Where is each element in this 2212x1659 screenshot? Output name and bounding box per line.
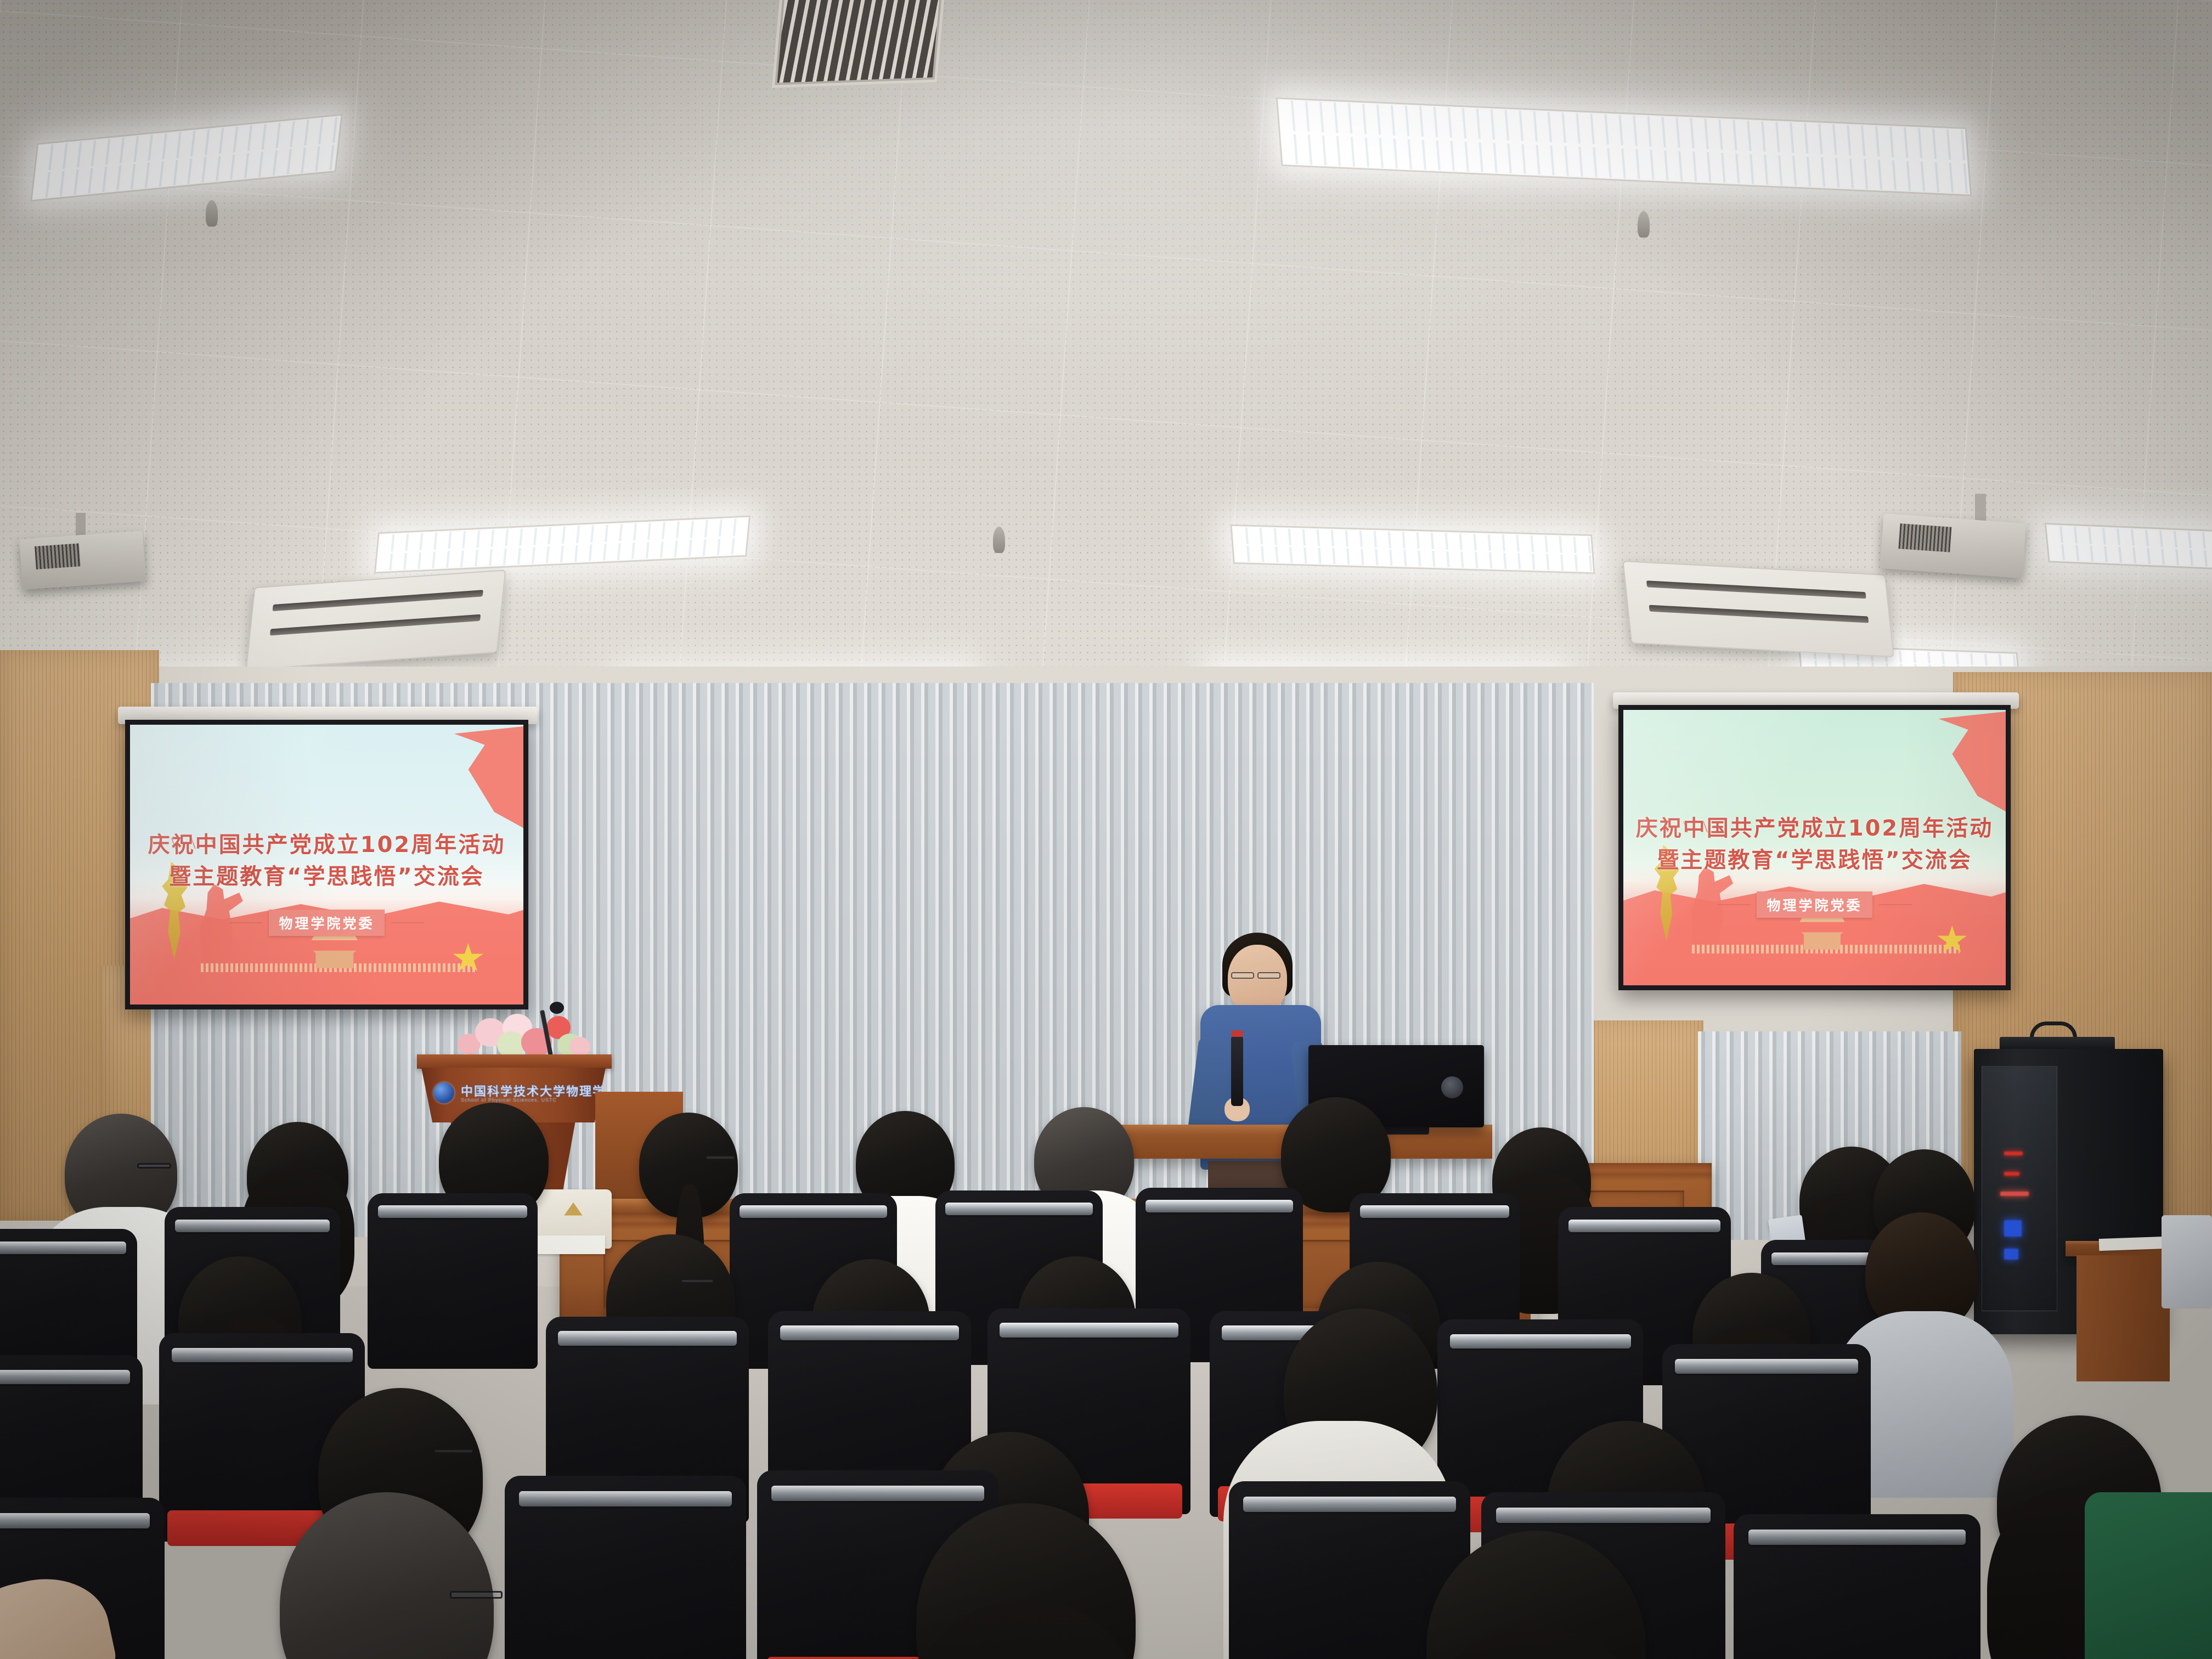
slide-badge-row-r: 物理学院党委 xyxy=(1623,891,2006,918)
auditorium-photo: ﹨﹨﹨ 庆祝中国共产党成立102周年活动 暨主题教育“学思践悟”交流会 物理学院… xyxy=(0,0,2212,1659)
rack-top-handle-icon xyxy=(2030,1022,2077,1038)
triangle-emblem-icon xyxy=(564,1203,583,1216)
university-crest-icon xyxy=(433,1082,454,1103)
rack-led-blue-2 xyxy=(2004,1249,2018,1260)
attendee-glasses-12 xyxy=(680,1278,714,1284)
slide-title-block-r: 庆祝中国共产党成立102周年活动 暨主题教育“学思践悟”交流会 xyxy=(1623,815,2006,874)
attendee-green-top xyxy=(2085,1492,2212,1659)
attendee-head-4 xyxy=(639,1113,738,1218)
rack-led-blue-1 xyxy=(2004,1220,2022,1237)
ceiling-projector-left xyxy=(19,531,146,589)
document-on-side-table[interactable] xyxy=(2099,1237,2165,1251)
presenter-head xyxy=(1228,945,1287,1014)
attendee-glasses-4 xyxy=(705,1155,736,1160)
projection-screen-right[interactable]: ﹨﹨﹨ 庆祝中国共产党成立102周年活动 暨主题教育“学思践悟”交流会 物理学院… xyxy=(1618,705,2011,990)
sprinkler-2 xyxy=(1638,211,1650,238)
slide-title-line-1: 庆祝中国共产党成立102周年活动 xyxy=(130,831,523,859)
lectern-top xyxy=(417,1054,612,1069)
slide-red-corner-shape xyxy=(421,725,523,837)
dell-logo-icon xyxy=(1441,1076,1463,1098)
attendee-glasses-1 xyxy=(137,1163,171,1169)
slide-rule-right-r xyxy=(1879,904,1912,905)
rack-led-red-3 xyxy=(2000,1192,2029,1196)
troffer-5 xyxy=(2045,523,2212,570)
rack-led-red-2 xyxy=(2004,1172,2019,1176)
papers-on-seat[interactable] xyxy=(535,1235,605,1254)
slide-org-badge-r: 物理学院党委 xyxy=(1757,891,1872,918)
sprinkler-1 xyxy=(993,527,1005,553)
slide-flag-wave xyxy=(130,876,523,1005)
slide-org-badge: 物理学院党委 xyxy=(269,910,384,936)
slide-red-corner-shape-r xyxy=(1906,710,2006,820)
slide-rule-right xyxy=(391,922,424,923)
slide-title-line-1-r: 庆祝中国共产党成立102周年活动 xyxy=(1623,815,2006,842)
seat-c8[interactable] xyxy=(1734,1514,1980,1659)
seat-c3[interactable] xyxy=(505,1476,746,1659)
presenter-glasses-right xyxy=(1257,972,1280,979)
lectern-org-subtext: School of Physical Sciences, USTC xyxy=(461,1097,557,1103)
side-table-leg xyxy=(2076,1255,2170,1381)
attendee-arm-right-edge xyxy=(2162,1215,2212,1308)
presenter-glasses xyxy=(1231,972,1254,979)
rack-led-red-1 xyxy=(2004,1152,2023,1155)
ceiling-air-vent xyxy=(772,0,945,88)
slide-title-line-2-r: 暨主题教育“学思践悟”交流会 xyxy=(1623,847,2006,874)
slide-badge-row: 物理学院党委 xyxy=(130,910,523,936)
podium-microphone[interactable] xyxy=(550,1002,564,1014)
slide-title-block: 庆祝中国共产党成立102周年活动 暨主题教育“学思践悟”交流会 xyxy=(130,831,523,890)
sprinkler-3 xyxy=(206,200,218,227)
projection-screen-left[interactable]: ﹨﹨﹨ 庆祝中国共产党成立102周年活动 暨主题教育“学思践悟”交流会 物理学院… xyxy=(125,720,528,1009)
handheld-microphone[interactable] xyxy=(1231,1036,1243,1106)
attendee-glasses-18 xyxy=(433,1448,474,1454)
rack-glass-door[interactable] xyxy=(1982,1066,2057,1311)
slide-title-line-2: 暨主题教育“学思践悟”交流会 xyxy=(130,863,523,890)
slide-flag-wave-r xyxy=(1623,859,2006,985)
attendee-glasses-fg-1 xyxy=(450,1591,503,1599)
slide-rule-left-r xyxy=(1717,904,1750,905)
ceiling-projector-right xyxy=(1880,513,2026,578)
ac-cassette-right xyxy=(1622,561,1894,657)
slide-rule-left xyxy=(229,922,262,923)
seat-a3[interactable] xyxy=(368,1193,538,1369)
